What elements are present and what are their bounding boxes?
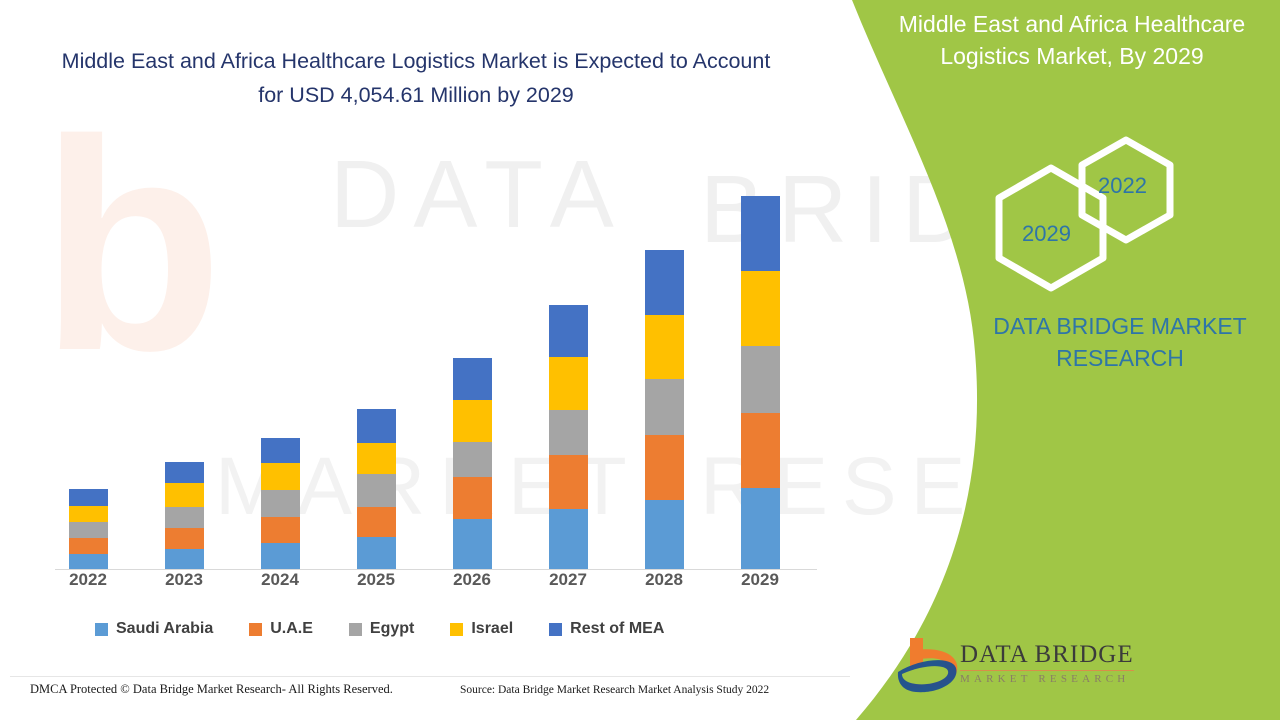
bar-segment-egypt [645, 379, 684, 435]
bar-segment-u-a-e [261, 517, 300, 543]
bar-segment-israel [357, 443, 396, 474]
chart-bars [40, 161, 830, 569]
bar-segment-u-a-e [741, 413, 780, 488]
bar-segment-u-a-e [69, 538, 108, 554]
bar-segment-saudi-arabia [69, 554, 108, 569]
bar-column-2029 [712, 161, 808, 569]
bar-column-2025 [328, 161, 424, 569]
panel-title: Middle East and Africa Healthcare Logist… [872, 8, 1272, 72]
bar-segment-egypt [453, 442, 492, 477]
bar-segment-israel [165, 483, 204, 507]
legend-item-egypt[interactable]: Egypt [349, 620, 414, 638]
x-axis-labels: 20222023202420252026202720282029 [40, 570, 830, 596]
stacked-bar [165, 462, 204, 569]
stacked-bar [549, 305, 588, 569]
infographic-page: b DATA BRIDGE MARKET RESEARCH Middle Eas… [0, 0, 1280, 720]
bar-segment-saudi-arabia [741, 488, 780, 569]
legend-label: Saudi Arabia [116, 620, 213, 638]
legend-label: Egypt [370, 620, 414, 638]
bar-segment-rest-of-mea [741, 196, 780, 271]
bar-segment-egypt [741, 346, 780, 413]
stacked-bar [453, 358, 492, 569]
logo-wordmark: DATA BRIDGE MARKET RESEARCH [960, 641, 1134, 685]
bar-segment-saudi-arabia [165, 549, 204, 569]
legend-label: Israel [471, 620, 513, 638]
hexagon-2022-label: 2022 [1098, 173, 1147, 199]
x-tick-2027: 2027 [520, 570, 616, 596]
stacked-bar [741, 196, 780, 569]
bar-segment-israel [261, 463, 300, 490]
bar-segment-egypt [549, 410, 588, 455]
bar-segment-israel [453, 400, 492, 442]
legend-swatch-icon [249, 623, 262, 636]
logo-sub-text: MARKET RESEARCH [960, 673, 1134, 685]
bar-column-2027 [520, 161, 616, 569]
legend-swatch-icon [95, 623, 108, 636]
x-tick-2029: 2029 [712, 570, 808, 596]
footer-copyright: DMCA Protected © Data Bridge Market Rese… [30, 682, 393, 697]
bar-column-2022 [40, 161, 136, 569]
legend-swatch-icon [549, 623, 562, 636]
chart-legend: Saudi ArabiaU.A.EEgyptIsraelRest of MEA [95, 616, 795, 642]
x-tick-2025: 2025 [328, 570, 424, 596]
stacked-bar [357, 409, 396, 569]
legend-swatch-icon [450, 623, 463, 636]
bar-segment-rest-of-mea [549, 305, 588, 357]
bar-segment-u-a-e [549, 455, 588, 509]
bar-column-2024 [232, 161, 328, 569]
bar-segment-u-a-e [645, 435, 684, 500]
legend-label: U.A.E [270, 620, 313, 638]
x-tick-2026: 2026 [424, 570, 520, 596]
bar-segment-u-a-e [453, 477, 492, 519]
bar-column-2026 [424, 161, 520, 569]
footer: DMCA Protected © Data Bridge Market Rese… [0, 676, 860, 716]
bar-segment-u-a-e [357, 507, 396, 537]
bar-segment-rest-of-mea [165, 462, 204, 483]
bar-segment-egypt [357, 474, 396, 507]
stacked-bar [69, 489, 108, 569]
footer-divider [10, 676, 850, 677]
bar-segment-israel [645, 315, 684, 379]
page-title: Middle East and Africa Healthcare Logist… [52, 44, 780, 112]
bar-segment-saudi-arabia [549, 509, 588, 569]
bar-segment-rest-of-mea [357, 409, 396, 443]
bar-segment-rest-of-mea [645, 250, 684, 315]
x-tick-2024: 2024 [232, 570, 328, 596]
logo-main-text: DATA BRIDGE [960, 641, 1134, 671]
bar-segment-rest-of-mea [69, 489, 108, 506]
legend-item-u-a-e[interactable]: U.A.E [249, 620, 313, 638]
stacked-bar-chart [40, 150, 830, 570]
legend-item-israel[interactable]: Israel [450, 620, 513, 638]
bar-segment-egypt [165, 507, 204, 528]
x-tick-2022: 2022 [40, 570, 136, 596]
bar-segment-rest-of-mea [453, 358, 492, 400]
bar-column-2028 [616, 161, 712, 569]
bar-segment-egypt [261, 490, 300, 517]
bar-segment-saudi-arabia [645, 500, 684, 569]
stacked-bar [645, 250, 684, 569]
bar-segment-israel [69, 506, 108, 522]
footer-source: Source: Data Bridge Market Research Mark… [460, 684, 769, 696]
stacked-bar [261, 438, 300, 569]
bar-column-2023 [136, 161, 232, 569]
legend-item-rest-of-mea[interactable]: Rest of MEA [549, 620, 664, 638]
x-tick-2028: 2028 [616, 570, 712, 596]
bar-segment-israel [741, 271, 780, 346]
bar-segment-u-a-e [165, 528, 204, 549]
bar-segment-israel [549, 357, 588, 410]
brand-name: DATA BRIDGE MARKET RESEARCH [960, 310, 1280, 374]
legend-swatch-icon [349, 623, 362, 636]
legend-label: Rest of MEA [570, 620, 664, 638]
x-tick-2023: 2023 [136, 570, 232, 596]
hexagon-2029-label: 2029 [1022, 221, 1071, 247]
bar-segment-saudi-arabia [261, 543, 300, 569]
bar-segment-egypt [69, 522, 108, 538]
legend-item-saudi-arabia[interactable]: Saudi Arabia [95, 620, 213, 638]
bar-segment-saudi-arabia [453, 519, 492, 569]
bar-segment-saudi-arabia [357, 537, 396, 569]
bar-segment-rest-of-mea [261, 438, 300, 463]
